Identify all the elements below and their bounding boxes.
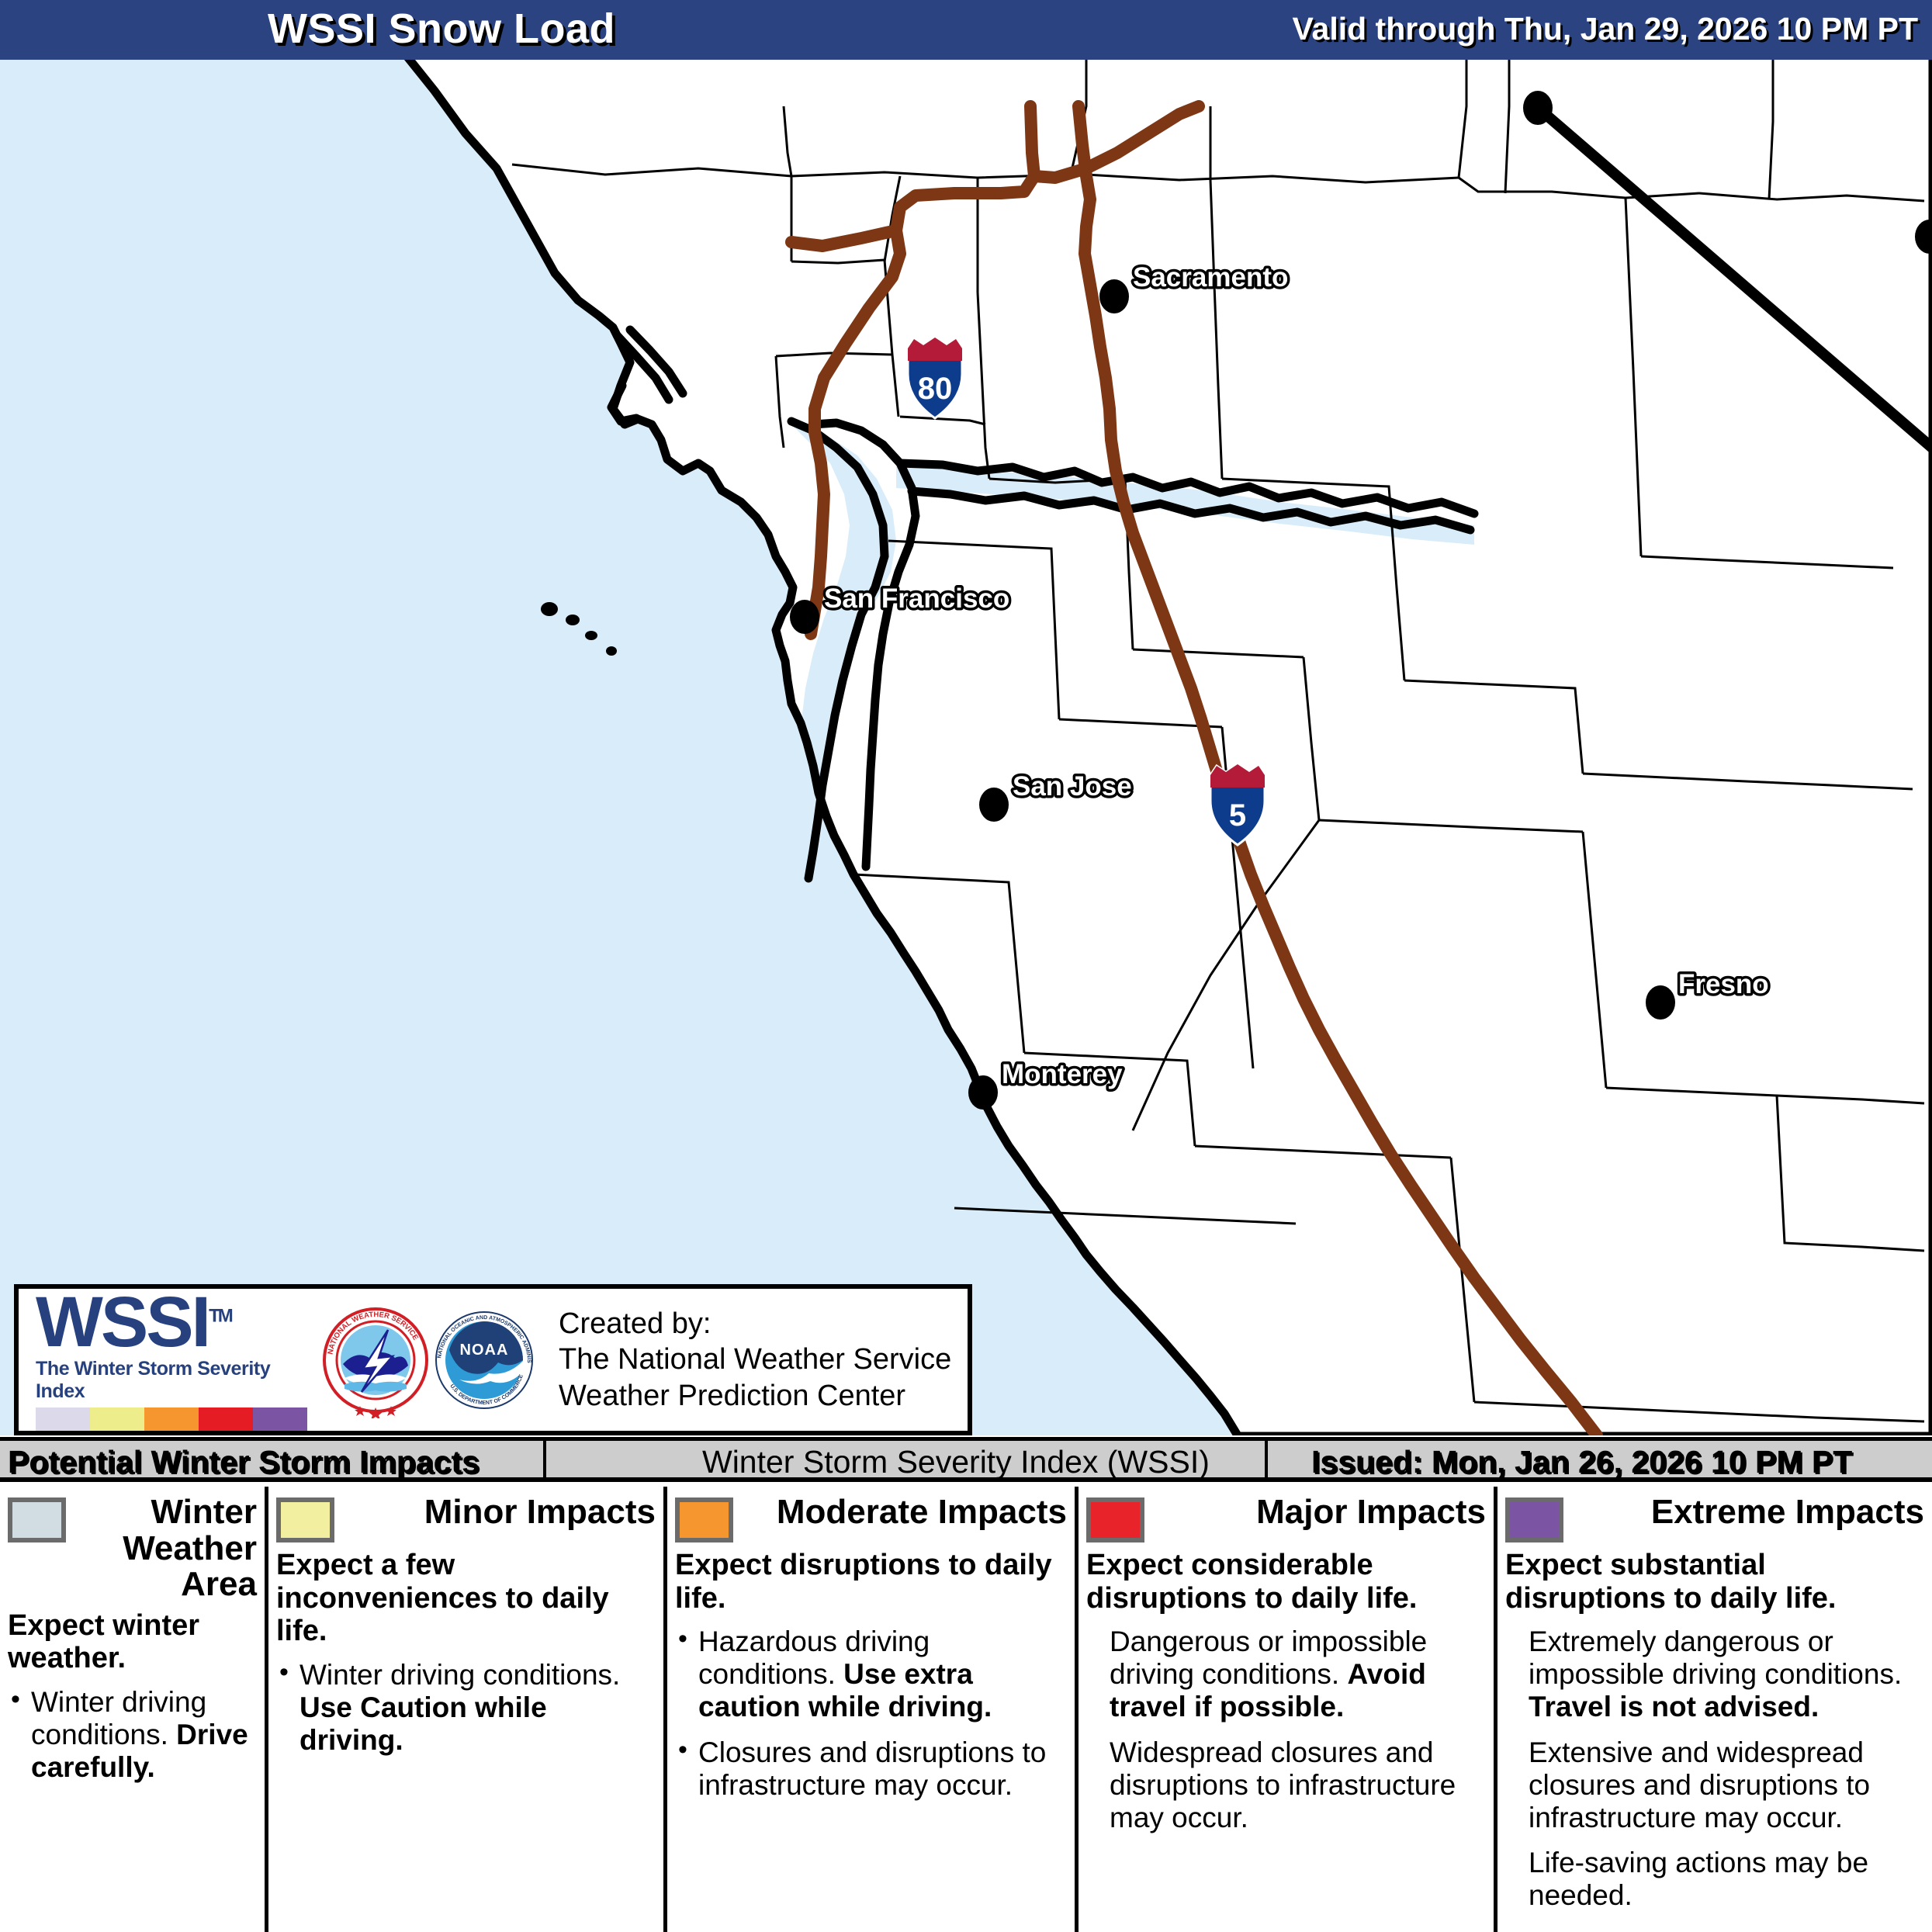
legend-bullet: Hazardous driving conditions. Use extra … bbox=[675, 1626, 1067, 1724]
wssi-snow-load-page: WSSI Snow Load Valid through Thu, Jan 29… bbox=[0, 0, 1932, 1932]
city-dot-fresno bbox=[1646, 985, 1675, 1020]
status-issued-time: Issued: Mon, Jan 26, 2026 10 PM PT bbox=[1311, 1444, 1852, 1480]
color-bar-major bbox=[199, 1407, 253, 1431]
bullet-plain-text: Winter driving conditions. bbox=[299, 1659, 620, 1691]
impact-legend: Winter Weather Area Expect winter weathe… bbox=[0, 1487, 1932, 1932]
legend-bullets-winter-weather-area: Winter driving conditions. Drive careful… bbox=[8, 1686, 257, 1785]
wssi-brand-logo: WSSITM The Winter Storm Severity Index bbox=[19, 1289, 321, 1431]
legend-title-extreme-impacts: Extreme Impacts bbox=[1573, 1494, 1924, 1531]
legend-column-extreme-impacts[interactable]: Extreme Impacts Expect substantial disru… bbox=[1497, 1487, 1932, 1932]
svg-text:NOAA: NOAA bbox=[460, 1342, 509, 1359]
status-bar: Potential Winter Storm Impacts Winter St… bbox=[0, 1437, 1932, 1482]
wssi-trademark: TM bbox=[209, 1305, 231, 1326]
legend-title-winter-weather-area: Winter Weather Area bbox=[75, 1494, 257, 1603]
map-graphic: 80 5 Sacramento San Francisco San Jose F… bbox=[0, 60, 1932, 1435]
legend-swatch-minor-impacts bbox=[276, 1497, 334, 1542]
page-header: WSSI Snow Load Valid through Thu, Jan 29… bbox=[0, 0, 1932, 60]
city-dot-san-francisco bbox=[790, 600, 819, 634]
legend-header: Major Impacts bbox=[1086, 1494, 1486, 1542]
legend-bullets-major-impacts: Dangerous or impossible driving conditio… bbox=[1086, 1626, 1486, 1834]
legend-bullets-minor-impacts: Winter driving conditions. Use Caution w… bbox=[276, 1659, 656, 1757]
status-potential-impacts: Potential Winter Storm Impacts bbox=[8, 1444, 480, 1480]
national-weather-service-seal: NATIONAL WEATHER SERVICE bbox=[321, 1302, 430, 1418]
wssi-wordmark: WSSITM bbox=[36, 1289, 321, 1356]
color-bar-extreme bbox=[253, 1407, 307, 1431]
legend-title-major-impacts: Major Impacts bbox=[1154, 1494, 1486, 1531]
legend-bullet: Winter driving conditions. Drive careful… bbox=[8, 1686, 257, 1785]
bullet-plain-text: Widespread closures and disruptions to i… bbox=[1110, 1736, 1456, 1833]
legend-intro-minor-impacts: Expect a few inconveniences to daily lif… bbox=[276, 1549, 656, 1648]
legend-bullet: Winter driving conditions. Use Caution w… bbox=[276, 1659, 656, 1757]
color-bar-winter-weather bbox=[36, 1407, 90, 1431]
color-bar-minor bbox=[90, 1407, 144, 1431]
farallon-islands bbox=[541, 602, 617, 656]
legend-bullet: Life-saving actions may be needed. bbox=[1505, 1847, 1924, 1912]
legend-title-moderate-impacts: Moderate Impacts bbox=[743, 1494, 1067, 1531]
wssi-subtitle: The Winter Storm Severity Index bbox=[36, 1358, 321, 1403]
city-label-sacramento: Sacramento bbox=[1133, 262, 1288, 293]
city-dot-sacramento bbox=[1099, 279, 1129, 313]
legend-column-winter-weather-area[interactable]: Winter Weather Area Expect winter weathe… bbox=[0, 1487, 268, 1932]
color-bar-moderate bbox=[144, 1407, 199, 1431]
created-by-line-1: Created by: bbox=[559, 1306, 951, 1342]
legend-intro-winter-weather-area: Expect winter weather. bbox=[8, 1609, 257, 1675]
city-dot-san-jose bbox=[979, 788, 1009, 822]
valid-through-text: Valid through Thu, Jan 29, 2026 10 PM PT bbox=[1292, 11, 1918, 47]
svg-text:80: 80 bbox=[918, 372, 953, 406]
city-label-monterey: Monterey bbox=[1002, 1059, 1123, 1089]
bullet-bold-text: Use Caution while driving. bbox=[299, 1691, 547, 1756]
bullet-bold-text: Travel is not advised. bbox=[1529, 1691, 1819, 1723]
created-by-line-3: Weather Prediction Center bbox=[559, 1378, 951, 1414]
status-divider-1 bbox=[543, 1441, 546, 1477]
legend-column-minor-impacts[interactable]: Minor Impacts Expect a few inconvenience… bbox=[268, 1487, 667, 1932]
legend-intro-major-impacts: Expect considerable disruptions to daily… bbox=[1086, 1549, 1486, 1615]
wssi-color-bar bbox=[36, 1407, 307, 1431]
city-label-san-francisco: San Francisco bbox=[824, 583, 1009, 614]
legend-swatch-major-impacts bbox=[1086, 1497, 1144, 1542]
legend-column-moderate-impacts[interactable]: Moderate Impacts Expect disruptions to d… bbox=[667, 1487, 1079, 1932]
bullet-plain-text: Extensive and widespread closures and di… bbox=[1529, 1736, 1870, 1833]
legend-bullet: Extensive and widespread closures and di… bbox=[1505, 1736, 1924, 1835]
noaa-seal: NOAA NATIONAL OCEANIC AND ATMOSPHERIC AD… bbox=[430, 1302, 538, 1418]
city-dot-offmap-north bbox=[1523, 91, 1553, 125]
weather-map[interactable]: 80 5 Sacramento San Francisco San Jose F… bbox=[0, 60, 1932, 1435]
legend-header: Moderate Impacts bbox=[675, 1494, 1067, 1542]
legend-column-major-impacts[interactable]: Major Impacts Expect considerable disrup… bbox=[1079, 1487, 1497, 1932]
legend-intro-moderate-impacts: Expect disruptions to daily life. bbox=[675, 1549, 1067, 1615]
legend-intro-extreme-impacts: Expect substantial disruptions to daily … bbox=[1505, 1549, 1924, 1615]
page-title: WSSI Snow Load bbox=[268, 5, 615, 53]
legend-header: Extreme Impacts bbox=[1505, 1494, 1924, 1542]
legend-bullet: Closures and disruptions to infrastructu… bbox=[675, 1736, 1067, 1802]
legend-swatch-moderate-impacts bbox=[675, 1497, 733, 1542]
legend-swatch-winter-weather-area bbox=[8, 1497, 66, 1542]
legend-bullet: Widespread closures and disruptions to i… bbox=[1086, 1736, 1486, 1835]
legend-title-minor-impacts: Minor Impacts bbox=[344, 1494, 656, 1531]
bullet-plain-text: Extremely dangerous or impossible drivin… bbox=[1529, 1626, 1902, 1690]
legend-bullets-extreme-impacts: Extremely dangerous or impossible drivin… bbox=[1505, 1626, 1924, 1912]
created-by-line-2: The National Weather Service bbox=[559, 1342, 951, 1377]
legend-header: Winter Weather Area bbox=[8, 1494, 257, 1603]
status-divider-2 bbox=[1265, 1441, 1268, 1477]
city-label-san-jose: San Jose bbox=[1013, 771, 1132, 802]
bullet-plain-text: Closures and disruptions to infrastructu… bbox=[698, 1736, 1046, 1801]
bullet-plain-text: Life-saving actions may be needed. bbox=[1529, 1847, 1868, 1911]
legend-swatch-extreme-impacts bbox=[1505, 1497, 1563, 1542]
svg-text:5: 5 bbox=[1229, 798, 1246, 833]
legend-bullet: Extremely dangerous or impossible drivin… bbox=[1505, 1626, 1924, 1724]
legend-header: Minor Impacts bbox=[276, 1494, 656, 1542]
status-wssi-name: Winter Storm Severity Index (WSSI) bbox=[702, 1444, 1210, 1480]
city-label-fresno: Fresno bbox=[1678, 969, 1769, 999]
legend-bullet: Dangerous or impossible driving conditio… bbox=[1086, 1626, 1486, 1724]
legend-bullets-moderate-impacts: Hazardous driving conditions. Use extra … bbox=[675, 1626, 1067, 1802]
created-by-block: Created by: The National Weather Service… bbox=[559, 1306, 951, 1414]
city-dot-monterey bbox=[968, 1075, 998, 1110]
wssi-logo-panel: WSSITM The Winter Storm Severity Index N… bbox=[14, 1284, 972, 1435]
